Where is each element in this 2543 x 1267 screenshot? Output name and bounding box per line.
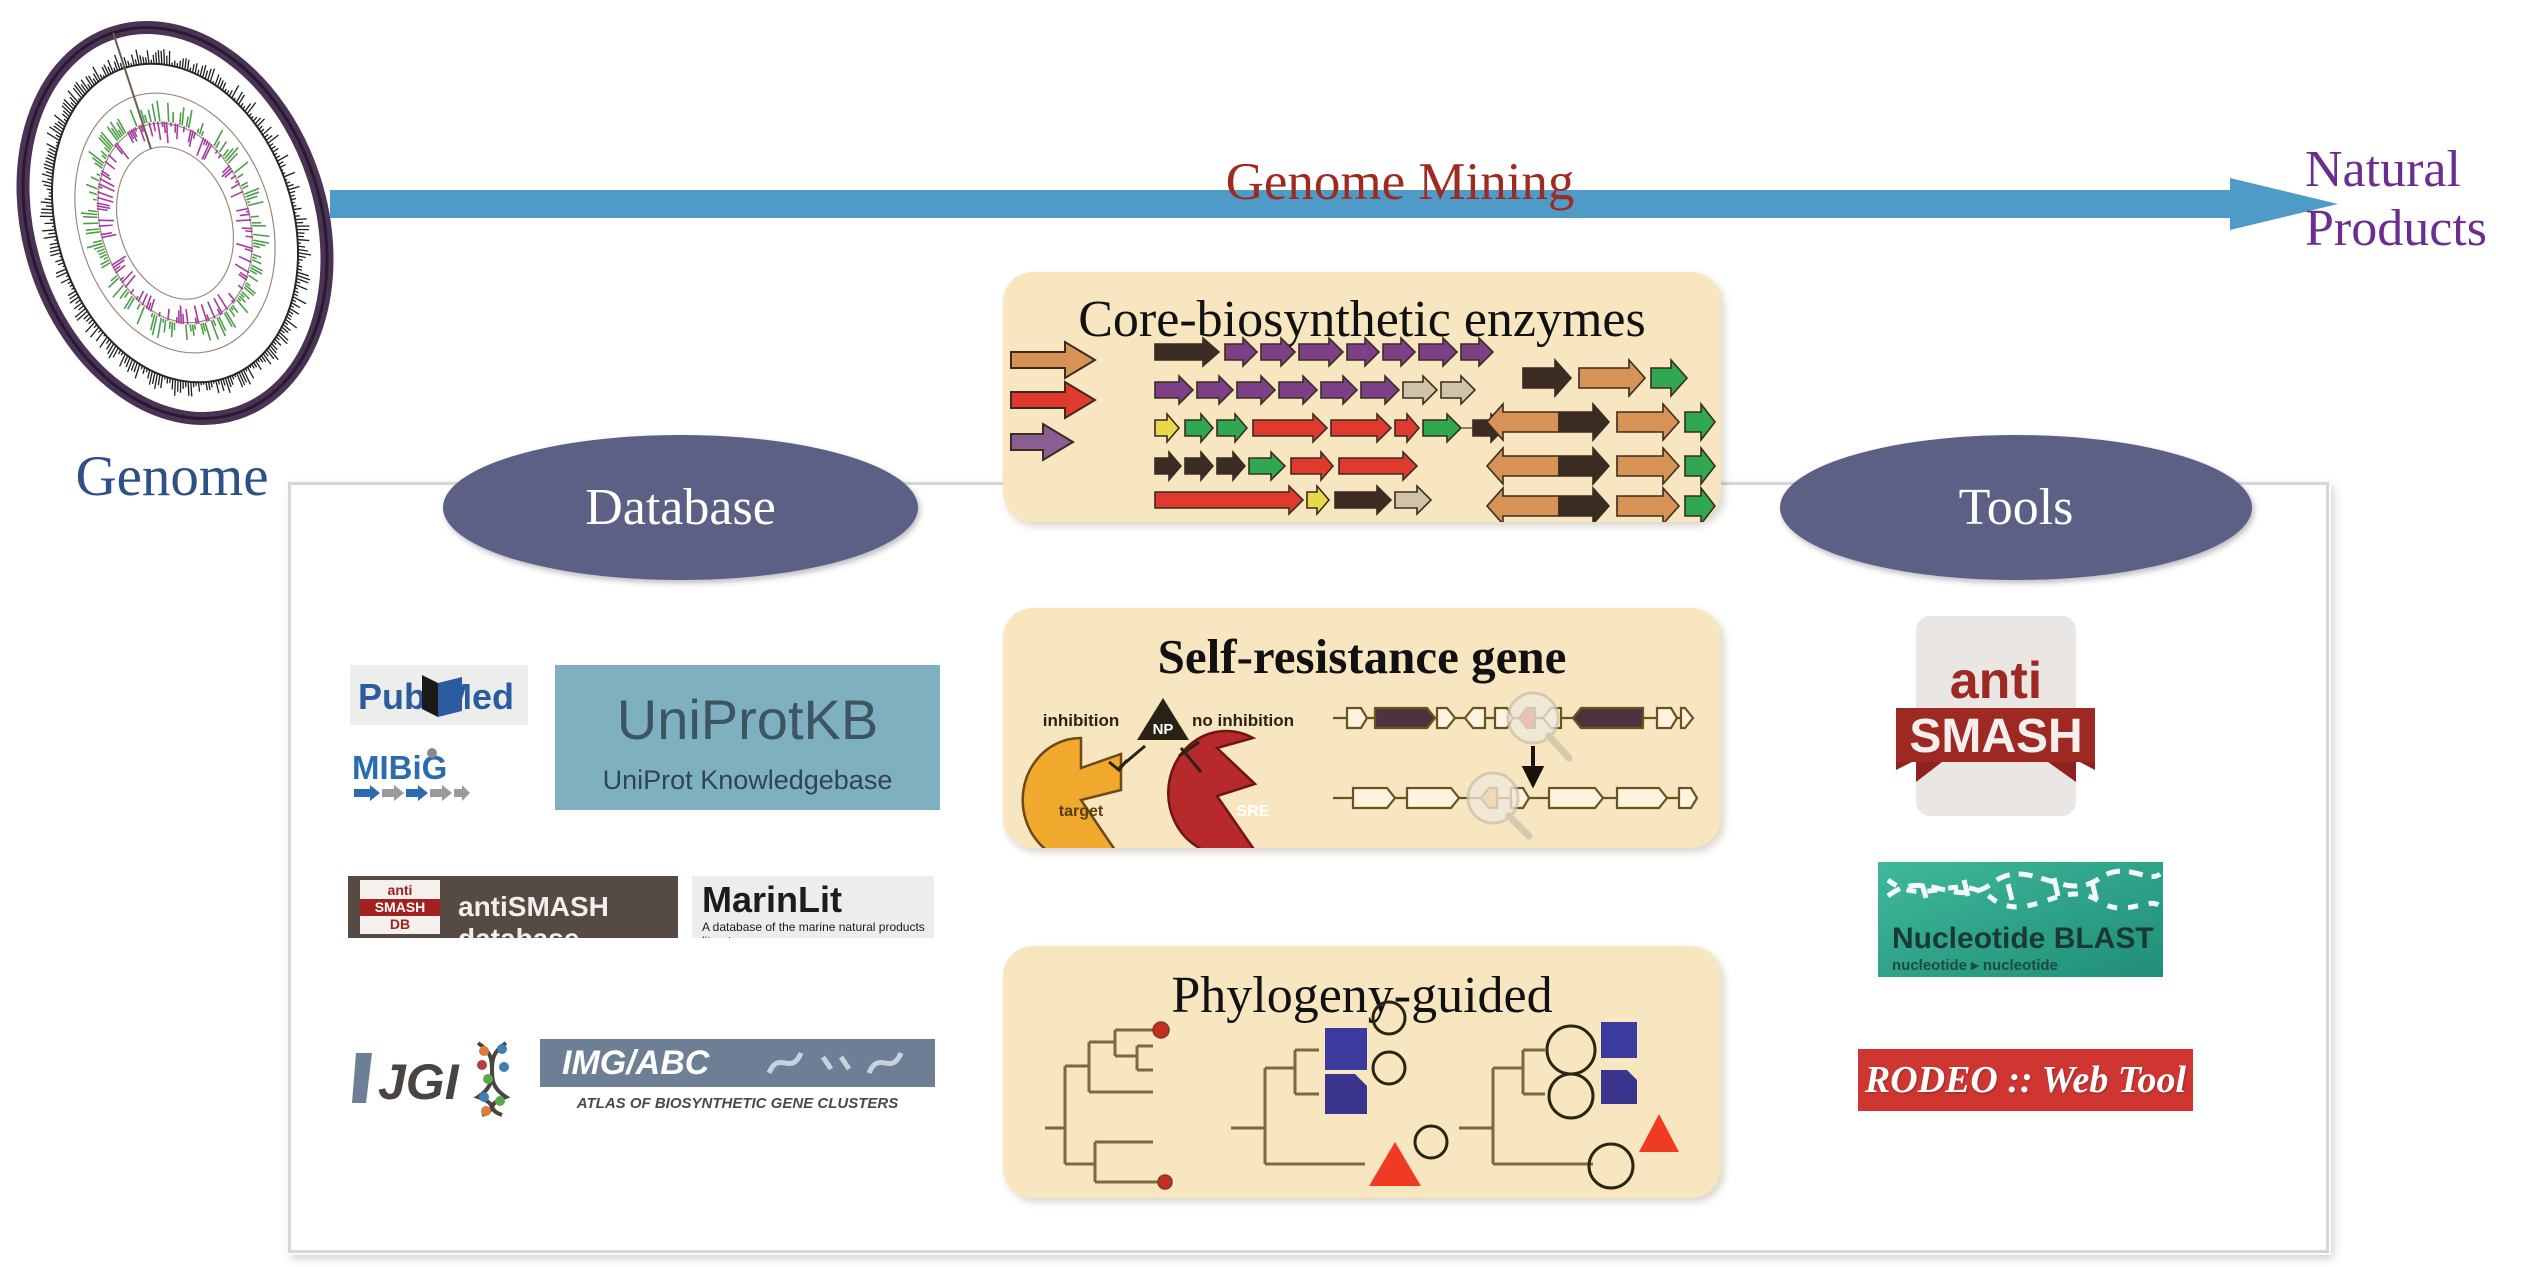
genome-label: Genome	[22, 444, 322, 509]
antismash-db-badge: anti SMASH DB	[360, 880, 440, 934]
target-label: target	[1059, 803, 1104, 820]
natural-products-line2: Products	[2305, 199, 2543, 258]
logo-mibig[interactable]: MIBiG	[350, 745, 470, 805]
phylo-circle	[1589, 1144, 1633, 1188]
marinlit-subtitle: A database of the marine natural product…	[702, 920, 934, 938]
genome-mining-label: Genome Mining	[1150, 152, 1650, 212]
genome-circular-plot	[10, 8, 340, 448]
category-tools: Tools	[1780, 435, 2252, 580]
logo-antismash-database[interactable]: anti SMASH DB antiSMASH database	[348, 876, 678, 938]
phylo-blue-square	[1601, 1070, 1637, 1104]
marinlit-title: MarinLit	[702, 879, 842, 921]
phylo-red-triangle	[1639, 1114, 1679, 1152]
rodeo-title: RODEO :: Web Tool	[1858, 1058, 2193, 1102]
phylo-red-triangle	[1369, 1142, 1421, 1186]
antismash-database-title: antiSMASH database	[458, 891, 678, 938]
uniprotkb-subtitle: UniProt Knowledgebase	[555, 765, 940, 796]
pubmed-text-pub: Pub	[358, 676, 426, 717]
antismash-db-badge-anti: anti	[360, 880, 440, 899]
target-shape	[1023, 738, 1121, 848]
panel-core-biosynthetic-enzymes: Core-biosynthetic enzymes	[1003, 272, 1721, 522]
core-gene-cluster-art	[1003, 272, 1721, 522]
logo-uniprotkb[interactable]: UniProtKB UniProt Knowledgebase	[555, 665, 940, 810]
self-resistance-art: inhibition no inhibition NP target SRE	[1003, 608, 1721, 848]
natural-products-label: Natural Products	[2305, 140, 2543, 258]
logo-antismash[interactable]: anti SMASH	[1888, 610, 2103, 825]
logo-nucleotide-blast[interactable]: Nucleotide BLAST nucleotide ▸ nucleotide	[1878, 862, 2163, 977]
uniprotkb-title: UniProtKB	[555, 687, 940, 752]
panel-self-resistance-gene: Self-resistance gene inhibition no inhib…	[1003, 608, 1721, 848]
logo-marinlit[interactable]: MarinLit A database of the marine natura…	[692, 876, 934, 938]
phylogeny-trees-art	[1003, 946, 1721, 1198]
natural-products-line1: Natural	[2305, 140, 2543, 199]
phylo-circle	[1373, 1002, 1405, 1034]
phylo-circle	[1547, 1026, 1595, 1074]
blast-subtitle: nucleotide ▸ nucleotide	[1892, 956, 2058, 974]
pubmed-text-med: Med	[442, 676, 514, 717]
antismash-db-badge-smash: SMASH	[360, 899, 440, 916]
logo-pubmed[interactable]: Pub Med	[350, 665, 528, 725]
phylo-red-dot	[1153, 1022, 1169, 1038]
no-inhibition-label: no inhibition	[1192, 711, 1294, 730]
sre-label: SRE	[1237, 803, 1270, 820]
antismash-anti-text: anti	[1950, 652, 2042, 710]
img-abc-subtitle: ATLAS OF BIOSYNTHETIC GENE CLUSTERS	[540, 1095, 935, 1112]
logo-rodeo-web-tool[interactable]: RODEO :: Web Tool	[1858, 1049, 2193, 1111]
phylo-circle	[1415, 1126, 1447, 1158]
panel-phylogeny-guided: Phylogeny-guided	[1003, 946, 1721, 1198]
phylo-circle	[1549, 1074, 1593, 1118]
phylo-blue-square	[1325, 1074, 1367, 1114]
np-label: NP	[1153, 721, 1174, 738]
blast-title: Nucleotide BLAST	[1892, 922, 2154, 956]
antismash-smash-text: SMASH	[1909, 710, 2082, 763]
inhibition-label: inhibition	[1043, 711, 1119, 730]
img-abc-squiggle-icon	[765, 1047, 915, 1081]
logo-img-abc[interactable]: IMG/ABC ATLAS OF BIOSYNTHETIC GENE CLUST…	[540, 1035, 935, 1120]
phylo-red-dot	[1158, 1175, 1172, 1189]
antismash-db-badge-db: DB	[360, 916, 440, 933]
phylo-circle	[1373, 1052, 1405, 1084]
img-abc-title: IMG/ABC	[562, 1044, 709, 1083]
logo-jgi[interactable]: JGI	[352, 1035, 527, 1120]
phylo-blue-square	[1325, 1028, 1367, 1070]
category-tools-label: Tools	[1959, 478, 2074, 537]
category-database: Database	[443, 435, 918, 580]
category-database-label: Database	[585, 478, 776, 537]
phylo-blue-square	[1601, 1022, 1637, 1058]
jgi-text: JGI	[378, 1054, 460, 1110]
